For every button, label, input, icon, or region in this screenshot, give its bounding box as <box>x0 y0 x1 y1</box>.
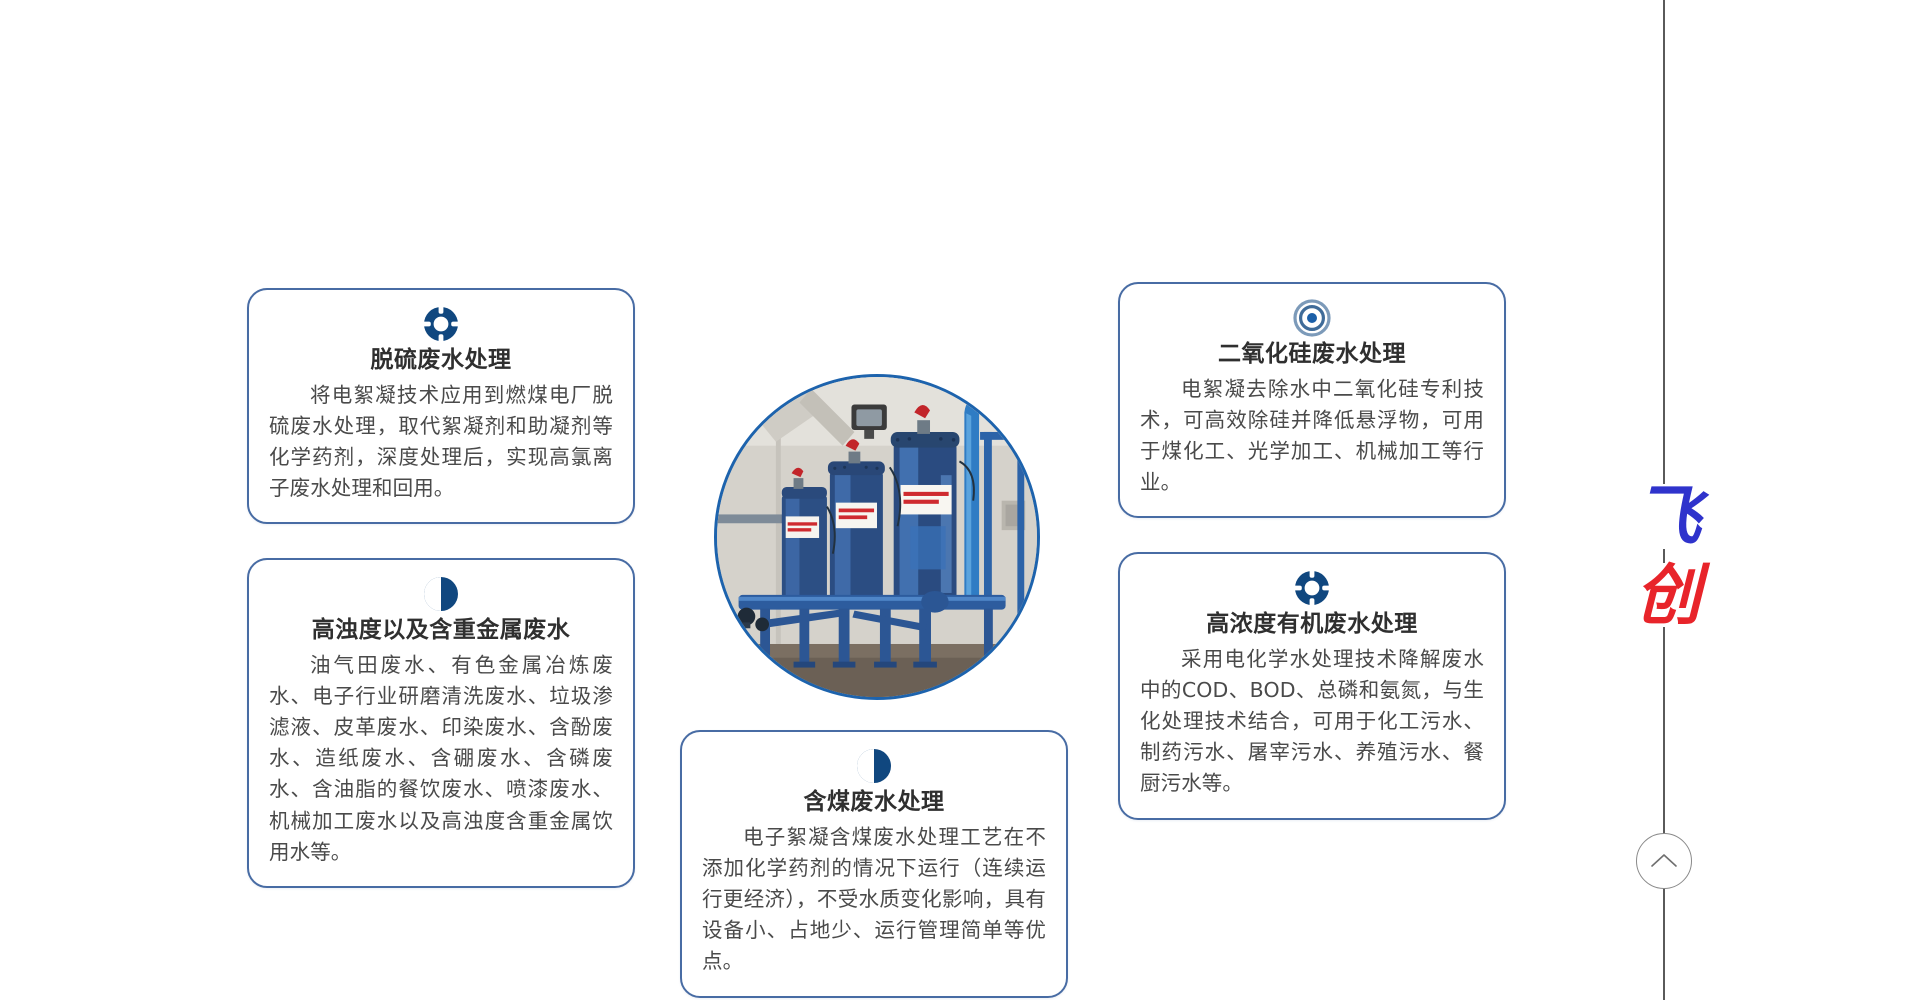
card-body: 电絮凝去除水中二氧化硅专利技术，可高效除硅并降低悬浮物，可用于煤化工、光学加工、… <box>1140 374 1484 499</box>
electrocoagulation-tanks-photo <box>714 374 1040 700</box>
card-high-turbidity-heavy-metal[interactable]: 高浊度以及含重金属废水 油气田废水、有色金属冶炼废水、电子行业研磨清洗废水、垃圾… <box>247 558 635 888</box>
card-desulfurization[interactable]: 脱硫废水处理 将电絮凝技术应用到燃煤电厂脱硫废水处理，取代絮凝剂和助凝剂等化学药… <box>247 288 635 524</box>
card-body: 电子絮凝含煤废水处理工艺在不添加化学药剂的情况下运行（连续运行更经济），不受水质… <box>702 822 1046 978</box>
card-title: 高浓度有机废水处理 <box>1140 610 1484 639</box>
card-title: 脱硫废水处理 <box>269 346 613 375</box>
half-circle-icon <box>702 746 1046 786</box>
chevron-up-icon <box>1649 852 1679 870</box>
card-high-concentration-organic[interactable]: 高浓度有机废水处理 采用电化学水处理技术降解废水中的COD、BOD、总磷和氨氮，… <box>1118 552 1506 820</box>
card-body: 采用电化学水处理技术降解废水中的COD、BOD、总磷和氨氮，与生化处理技术结合，… <box>1140 644 1484 800</box>
card-coal-wastewater[interactable]: 含煤废水处理 电子絮凝含煤废水处理工艺在不添加化学药剂的情况下运行（连续运行更经… <box>680 730 1068 998</box>
target-circles-icon <box>1140 298 1484 338</box>
card-title: 二氧化硅废水处理 <box>1140 340 1484 369</box>
card-silica-wastewater[interactable]: 二氧化硅废水处理 电絮凝去除水中二氧化硅专利技术，可高效除硅并降低悬浮物，可用于… <box>1118 282 1506 518</box>
card-body: 将电絮凝技术应用到燃煤电厂脱硫废水处理，取代絮凝剂和助凝剂等化学药剂，深度处理后… <box>269 380 613 505</box>
lifebuoy-icon <box>1140 568 1484 608</box>
brand-char-primary: 飞 <box>1628 484 1708 549</box>
card-title: 高浊度以及含重金属废水 <box>269 616 613 645</box>
brand-char-secondary: 创 <box>1628 563 1708 628</box>
scroll-to-top-button[interactable] <box>1636 833 1692 889</box>
half-circle-icon <box>269 574 613 614</box>
brand-vertical-text: 飞 创 <box>1628 484 1708 627</box>
card-title: 含煤废水处理 <box>702 788 1046 817</box>
page-root: 脱硫废水处理 将电絮凝技术应用到燃煤电厂脱硫废水处理，取代絮凝剂和助凝剂等化学药… <box>0 0 1920 1000</box>
card-body: 油气田废水、有色金属冶炼废水、电子行业研磨清洗废水、垃圾渗滤液、皮革废水、印染废… <box>269 650 613 868</box>
lifebuoy-icon <box>269 304 613 344</box>
